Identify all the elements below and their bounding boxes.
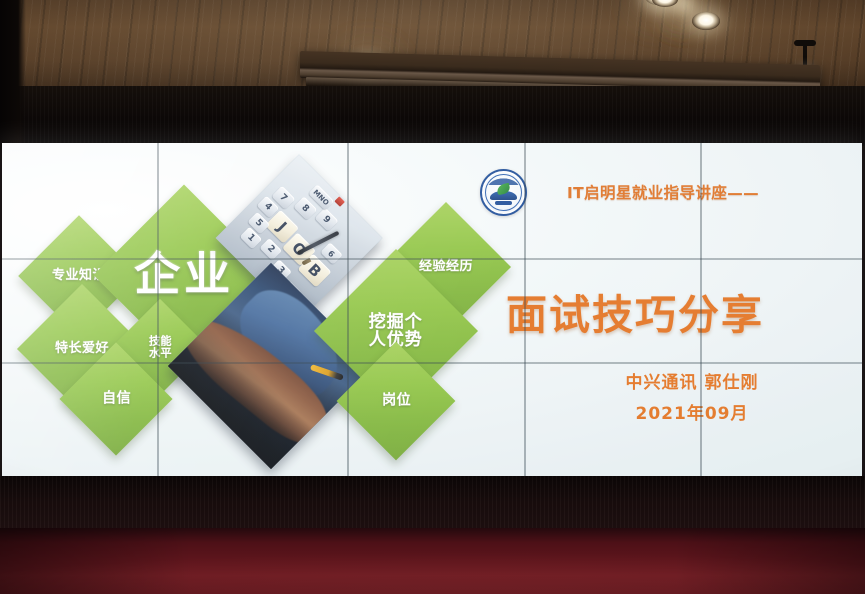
curtain-shading: [0, 528, 865, 594]
diamond-label-line1: 挖掘个: [369, 312, 423, 332]
diamond-label: 特长爱好: [55, 342, 109, 356]
panel-seam-vertical: [700, 143, 702, 479]
key-6: 6: [320, 242, 343, 265]
diamond-label: 自信: [102, 391, 131, 406]
panel-seam-horizontal: [2, 258, 862, 260]
panel-seam-horizontal: [2, 362, 862, 364]
stage-curtain: [0, 528, 865, 594]
red-tab-icon: [334, 196, 345, 207]
wall-above-screen: [0, 86, 865, 146]
key-9: 9: [315, 208, 339, 232]
diamond-label: 岗位: [382, 393, 411, 408]
emblem-banner: [495, 201, 512, 205]
wall-below-screen: [0, 476, 865, 534]
downlight-icon: [692, 12, 720, 30]
projector-mount-icon: [794, 40, 816, 46]
diamond-label: 经验经历: [419, 260, 473, 274]
video-wall-display[interactable]: 专业知识 企业 特长爱好 技能 水平 自信 7: [2, 143, 862, 479]
diamond-label-line2: 水平: [149, 346, 172, 359]
panel-seam-vertical: [347, 143, 349, 479]
slide-date: 2021年09月: [562, 399, 822, 424]
slide-main-title: 面试技巧分享: [506, 281, 764, 341]
wall-left-shadow: [0, 0, 26, 150]
photo-of-lecture-hall: 专业知识 企业 特长爱好 技能 水平 自信 7: [0, 0, 865, 594]
presenter-name: 中兴通讯 郭仕刚: [562, 368, 822, 393]
wall-texture: [0, 476, 865, 534]
diamond-label-line1: 技能: [149, 334, 172, 347]
diamond-label: 技能 水平: [149, 335, 172, 359]
lecture-series-title: IT启明星就业指导讲座——: [567, 181, 759, 203]
school-emblem-icon: [480, 169, 527, 216]
wall-texture: [0, 86, 865, 146]
panel-seam-vertical: [157, 143, 159, 479]
presentation-slide: 专业知识 企业 特长爱好 技能 水平 自信 7: [2, 143, 862, 479]
panel-seam-vertical: [524, 143, 526, 479]
